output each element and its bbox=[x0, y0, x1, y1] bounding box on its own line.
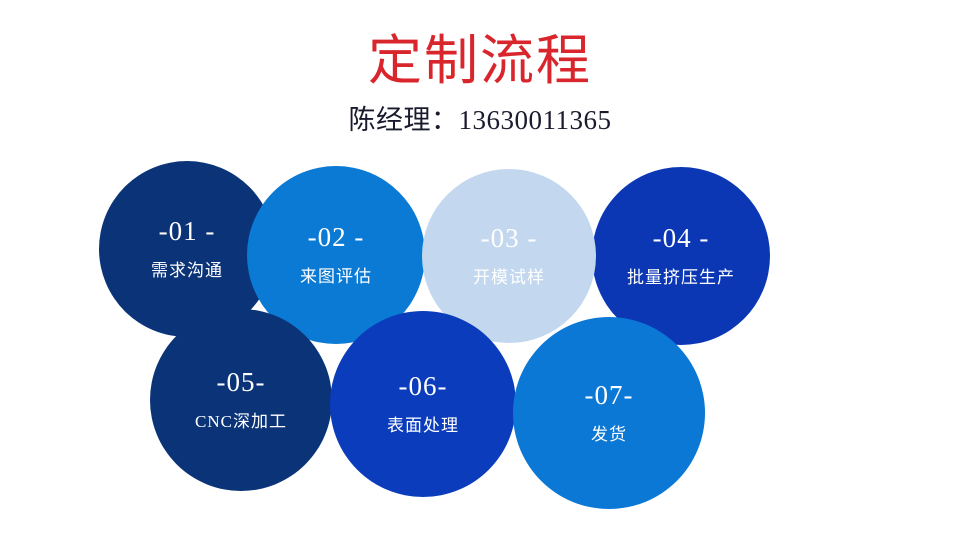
flow-step-label: 开模试样 bbox=[473, 267, 545, 289]
flow-step-number: -04 - bbox=[653, 223, 710, 253]
flow-step-label: 表面处理 bbox=[387, 415, 459, 437]
flow-step-number: -03 - bbox=[481, 223, 538, 253]
flow-step-number: -01 - bbox=[159, 216, 216, 246]
flow-step-label: 来图评估 bbox=[300, 266, 372, 288]
flow-step-number: -02 - bbox=[308, 222, 365, 252]
flow-step-number: -05- bbox=[217, 367, 266, 397]
process-flow-diagram: -01 - 需求沟通 -02 - 来图评估 -03 - 开模试样 -04 - 批… bbox=[0, 0, 960, 560]
flow-step-label: 批量挤压生产 bbox=[627, 267, 735, 289]
flow-step-07[interactable]: -07- 发货 bbox=[513, 317, 705, 509]
flow-step-05[interactable]: -05- CNC深加工 bbox=[150, 309, 332, 491]
flow-step-label: 需求沟通 bbox=[151, 260, 223, 282]
flow-step-label: CNC深加工 bbox=[195, 411, 287, 433]
slide-canvas: 定制流程 陈经理：13630011365 -01 - 需求沟通 -02 - 来图… bbox=[0, 0, 960, 560]
flow-step-number: -07- bbox=[585, 380, 634, 410]
flow-step-label: 发货 bbox=[591, 424, 627, 446]
flow-step-number: -06- bbox=[399, 371, 448, 401]
flow-step-06[interactable]: -06- 表面处理 bbox=[330, 311, 516, 497]
